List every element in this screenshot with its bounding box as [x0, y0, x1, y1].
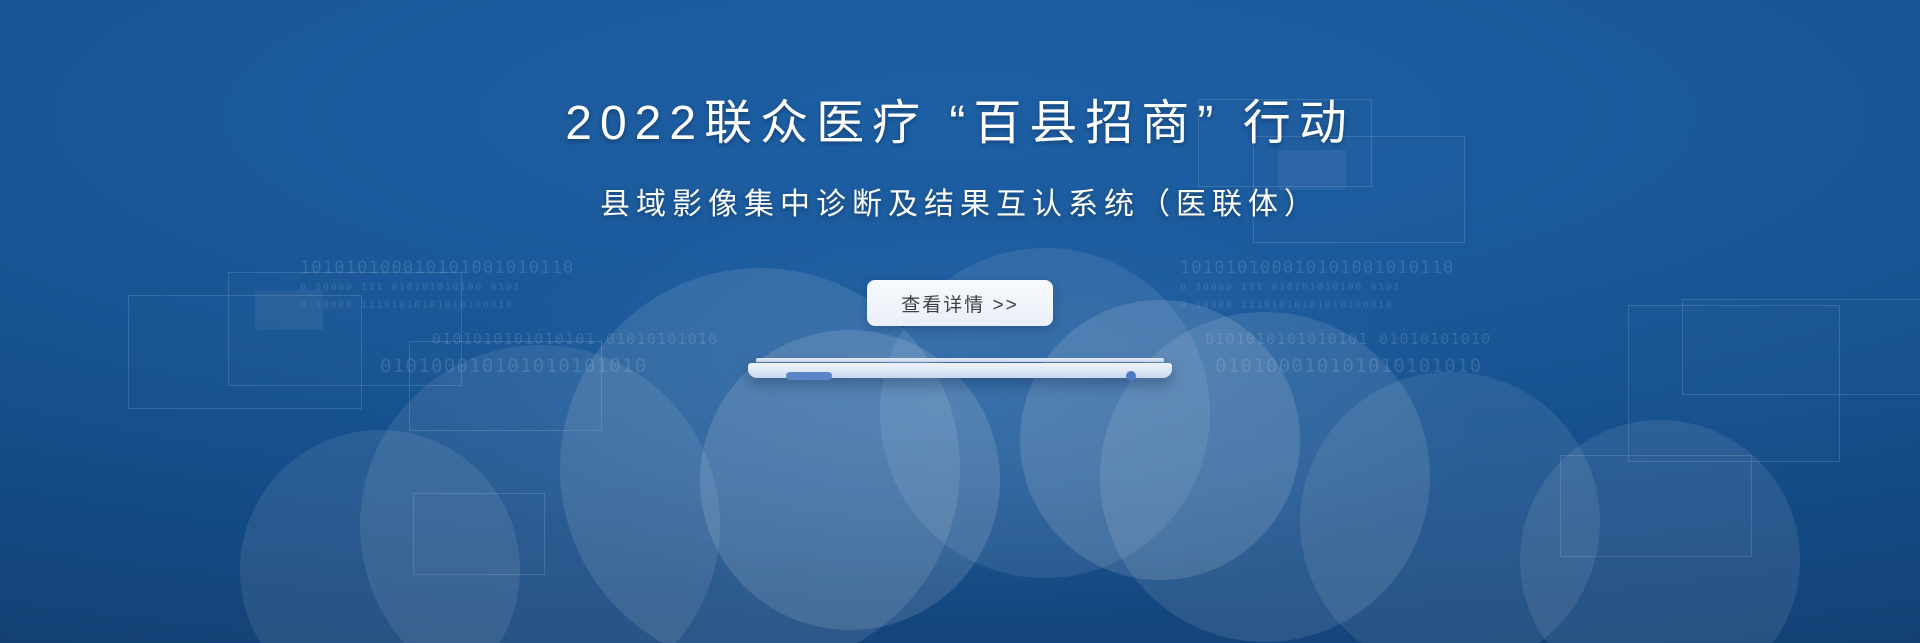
promo-banner: 101010100010101001010110 0 10000 111 010… — [0, 0, 1920, 643]
laptop-screen-lip — [756, 358, 1164, 362]
banner-title: 2022联众医疗 “百县招商” 行动 — [565, 100, 1354, 148]
laptop-trackpad-bar — [786, 372, 832, 380]
banner-subtitle: 县域影像集中诊断及结果互认系统（医联体） — [600, 190, 1320, 220]
laptop-deck — [748, 363, 1172, 378]
banner-content: 2022联众医疗 “百县招商” 行动 县域影像集中诊断及结果互认系统（医联体） … — [0, 0, 1920, 643]
view-details-button[interactable]: 查看详情 >> — [867, 280, 1053, 326]
laptop-base-icon — [748, 358, 1172, 380]
laptop-indicator-dot — [1126, 371, 1136, 381]
